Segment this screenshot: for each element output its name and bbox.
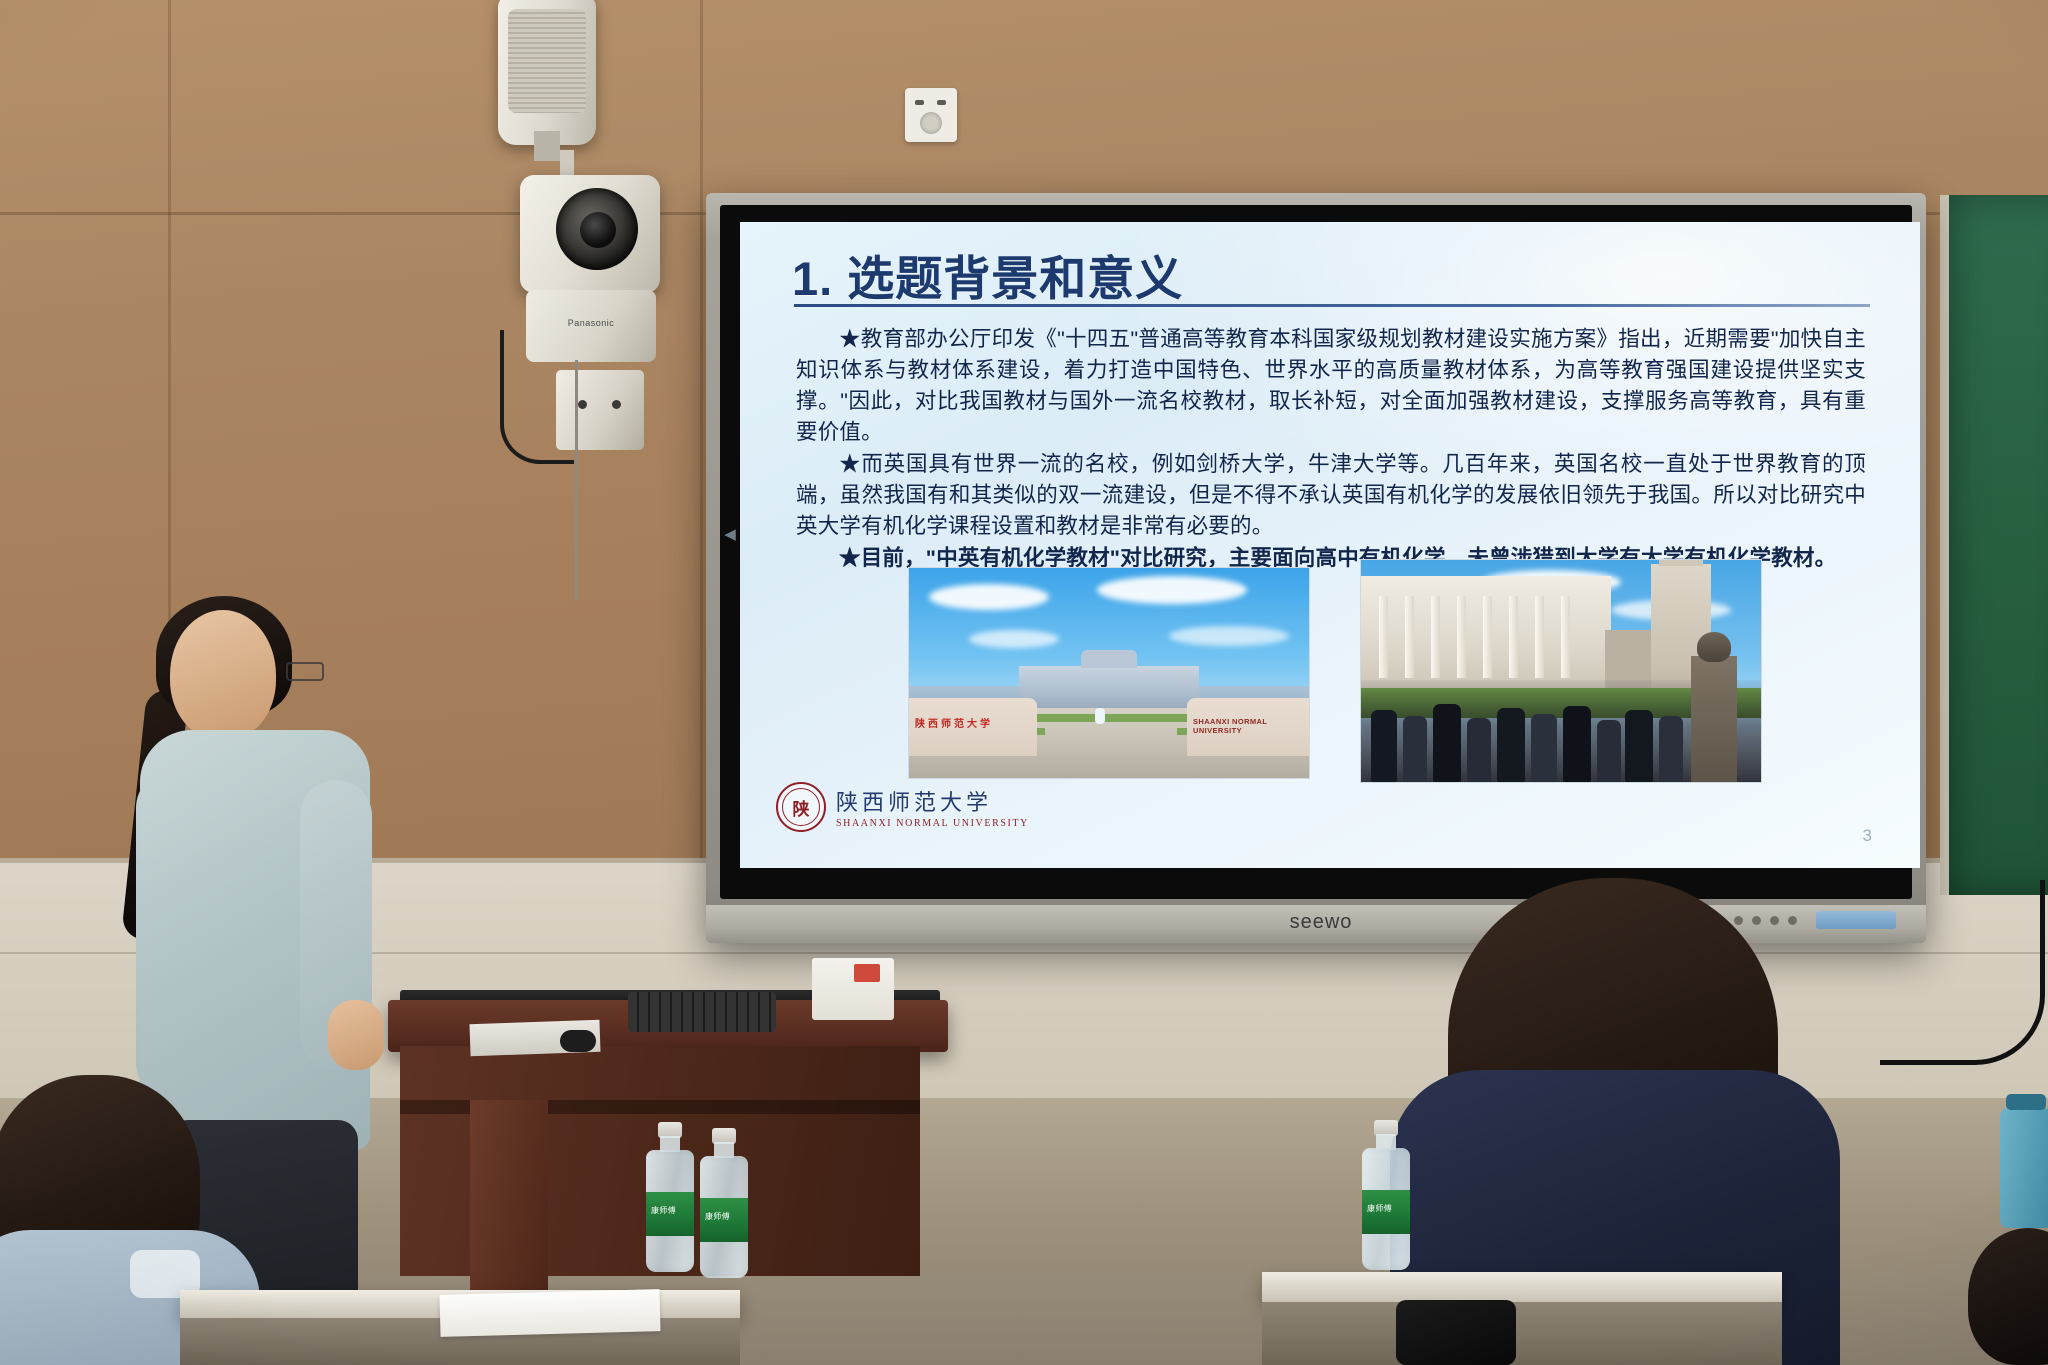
bottle-label-text: 康师傅 <box>1367 1203 1392 1214</box>
audience-table-right-front <box>1262 1302 1782 1365</box>
gate-wall-left: 陕西师范大学 <box>909 698 1037 756</box>
panel-button-volume-up[interactable] <box>1770 916 1779 925</box>
photo-shaanxi-normal-university-gate: 陕西师范大学 SHAANXI NORMAL UNIVERSITY <box>908 567 1310 779</box>
slide-paragraph-2: ★而英国具有世界一流的名校，例如剑桥大学，牛津大学等。几百年来，英国名校一直处于… <box>796 449 1866 542</box>
university-logo: 陕 陕西师范大学 SHAANXI NORMAL UNIVERSITY <box>776 782 1029 832</box>
university-name-cn: 陕西师范大学 <box>836 785 1029 817</box>
seewo-brand-logo: seewo <box>1266 911 1376 934</box>
gate-wall-right: SHAANXI NORMAL UNIVERSITY <box>1187 698 1309 756</box>
panel-button-volume-down[interactable] <box>1752 916 1761 925</box>
seal-character: 陕 <box>793 795 810 820</box>
photo-uk-graduation-ceremony <box>1360 559 1762 783</box>
panel-bezel: ◀ ▶ 1. 选题背景和意义 ★教育部办公厅印发《"十四五"普通高等教育本科国家… <box>720 205 1912 899</box>
wall-panel-seam <box>700 0 703 880</box>
tissue-box <box>812 958 894 1020</box>
presenter-hand <box>328 1000 384 1070</box>
computer-mouse[interactable] <box>560 1030 596 1052</box>
wall-socket-upper[interactable] <box>905 88 957 142</box>
computer-keyboard[interactable] <box>628 992 776 1032</box>
speaker-mount <box>534 131 560 161</box>
camera-hanging-wire <box>575 360 578 600</box>
bottle-label-text: 康师傅 <box>705 1211 730 1222</box>
slide-title: 1. 选题背景和意义 <box>792 240 1183 309</box>
left-side-toolbar-arrow-icon[interactable]: ◀ <box>722 521 738 547</box>
ceiling-speaker <box>498 0 596 145</box>
classroom-scene: Panasonic ◀ ▶ 1. 选题背景和意义 ★教育部办公厅印发《"十四五"… <box>0 0 2048 1365</box>
handout-paper-left[interactable] <box>439 1289 660 1337</box>
interactive-flat-panel[interactable]: ◀ ▶ 1. 选题背景和意义 ★教育部办公厅印发《"十四五"普通高等教育本科国家… <box>706 193 1926 943</box>
bottle-label-text: 康师傅 <box>651 1205 676 1216</box>
bottle-label: 康师傅 <box>1362 1190 1410 1234</box>
panel-asset-sticker <box>1816 911 1896 929</box>
slide-page-number: 3 <box>1863 826 1872 846</box>
tablet-device[interactable] <box>1396 1300 1516 1365</box>
panel-button-menu[interactable] <box>1734 916 1743 925</box>
camera-cable <box>500 330 574 464</box>
bottle-label: 康师傅 <box>646 1192 694 1236</box>
camera-lens-icon <box>580 212 616 248</box>
university-seal-icon: 陕 <box>776 782 826 832</box>
thermos-cup[interactable] <box>2000 1108 2048 1228</box>
camera-brand-label: Panasonic <box>556 318 626 328</box>
presenter-glasses-icon <box>286 662 324 681</box>
university-name-en: SHAANXI NORMAL UNIVERSITY <box>836 818 1029 829</box>
thermos-lid <box>2006 1094 2046 1110</box>
presentation-slide[interactable]: 1. 选题背景和意义 ★教育部办公厅印发《"十四五"普通高等教育本科国家级规划教… <box>740 222 1920 868</box>
gate-label-cn: 陕西师范大学 <box>915 715 993 730</box>
panel-button-source[interactable] <box>1788 916 1797 925</box>
chalkboard <box>1940 195 2048 895</box>
panel-screen[interactable]: 1. 选题背景和意义 ★教育部办公厅印发《"十四五"普通高等教育本科国家级规划教… <box>740 222 1920 868</box>
title-underline <box>794 304 1870 307</box>
presenter-head <box>170 610 276 740</box>
bottle-label: 康师傅 <box>700 1198 748 1242</box>
slide-body-text: ★教育部办公厅印发《"十四五"普通高等教育本科国家级规划教材建设实施方案》指出，… <box>796 324 1866 575</box>
speaker-grille <box>508 9 586 113</box>
audience-table-right <box>1262 1272 1782 1304</box>
slide-paragraph-1: ★教育部办公厅印发《"十四五"普通高等教育本科国家级规划教材建设实施方案》指出，… <box>796 324 1866 448</box>
gate-label-en: SHAANXI NORMAL UNIVERSITY <box>1193 717 1309 735</box>
